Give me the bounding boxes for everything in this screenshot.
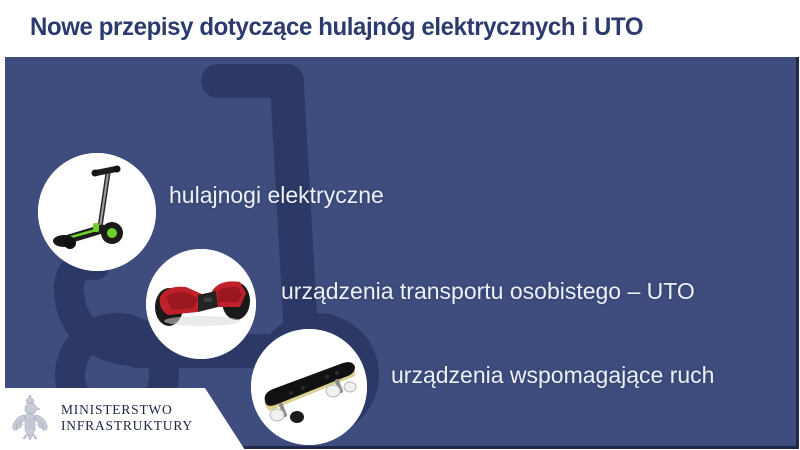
ministry-name: MINISTERSTWO INFRASTRUKTURY <box>61 402 193 434</box>
item-label-uto: urządzenia transportu osobistego – UTO <box>281 278 695 305</box>
ministry-banner: MINISTERSTWO INFRASTRUKTURY <box>0 388 245 450</box>
item-label-hulajnogi: hulajnogi elektryczne <box>169 182 384 209</box>
header-band: Nowe przepisy dotyczące hulajnóg elektry… <box>0 0 800 57</box>
ministry-line-2: INFRASTRUKTURY <box>61 418 193 434</box>
polish-eagle-emblem-icon <box>8 394 52 442</box>
page-title: Nowe przepisy dotyczące hulajnóg elektry… <box>30 13 643 42</box>
item-label-wspomagajace: urządzenia wspomagające ruch <box>391 362 714 389</box>
slide-root: Nowe przepisy dotyczące hulajnóg elektry… <box>0 0 800 450</box>
ministry-line-1: MINISTERSTWO <box>61 402 193 418</box>
hoverboard-photo <box>146 249 256 359</box>
skateboard-photo <box>251 329 367 445</box>
ministry-logo-group: MINISTERSTWO INFRASTRUKTURY <box>8 394 193 442</box>
electric-scooter-photo <box>38 153 156 271</box>
